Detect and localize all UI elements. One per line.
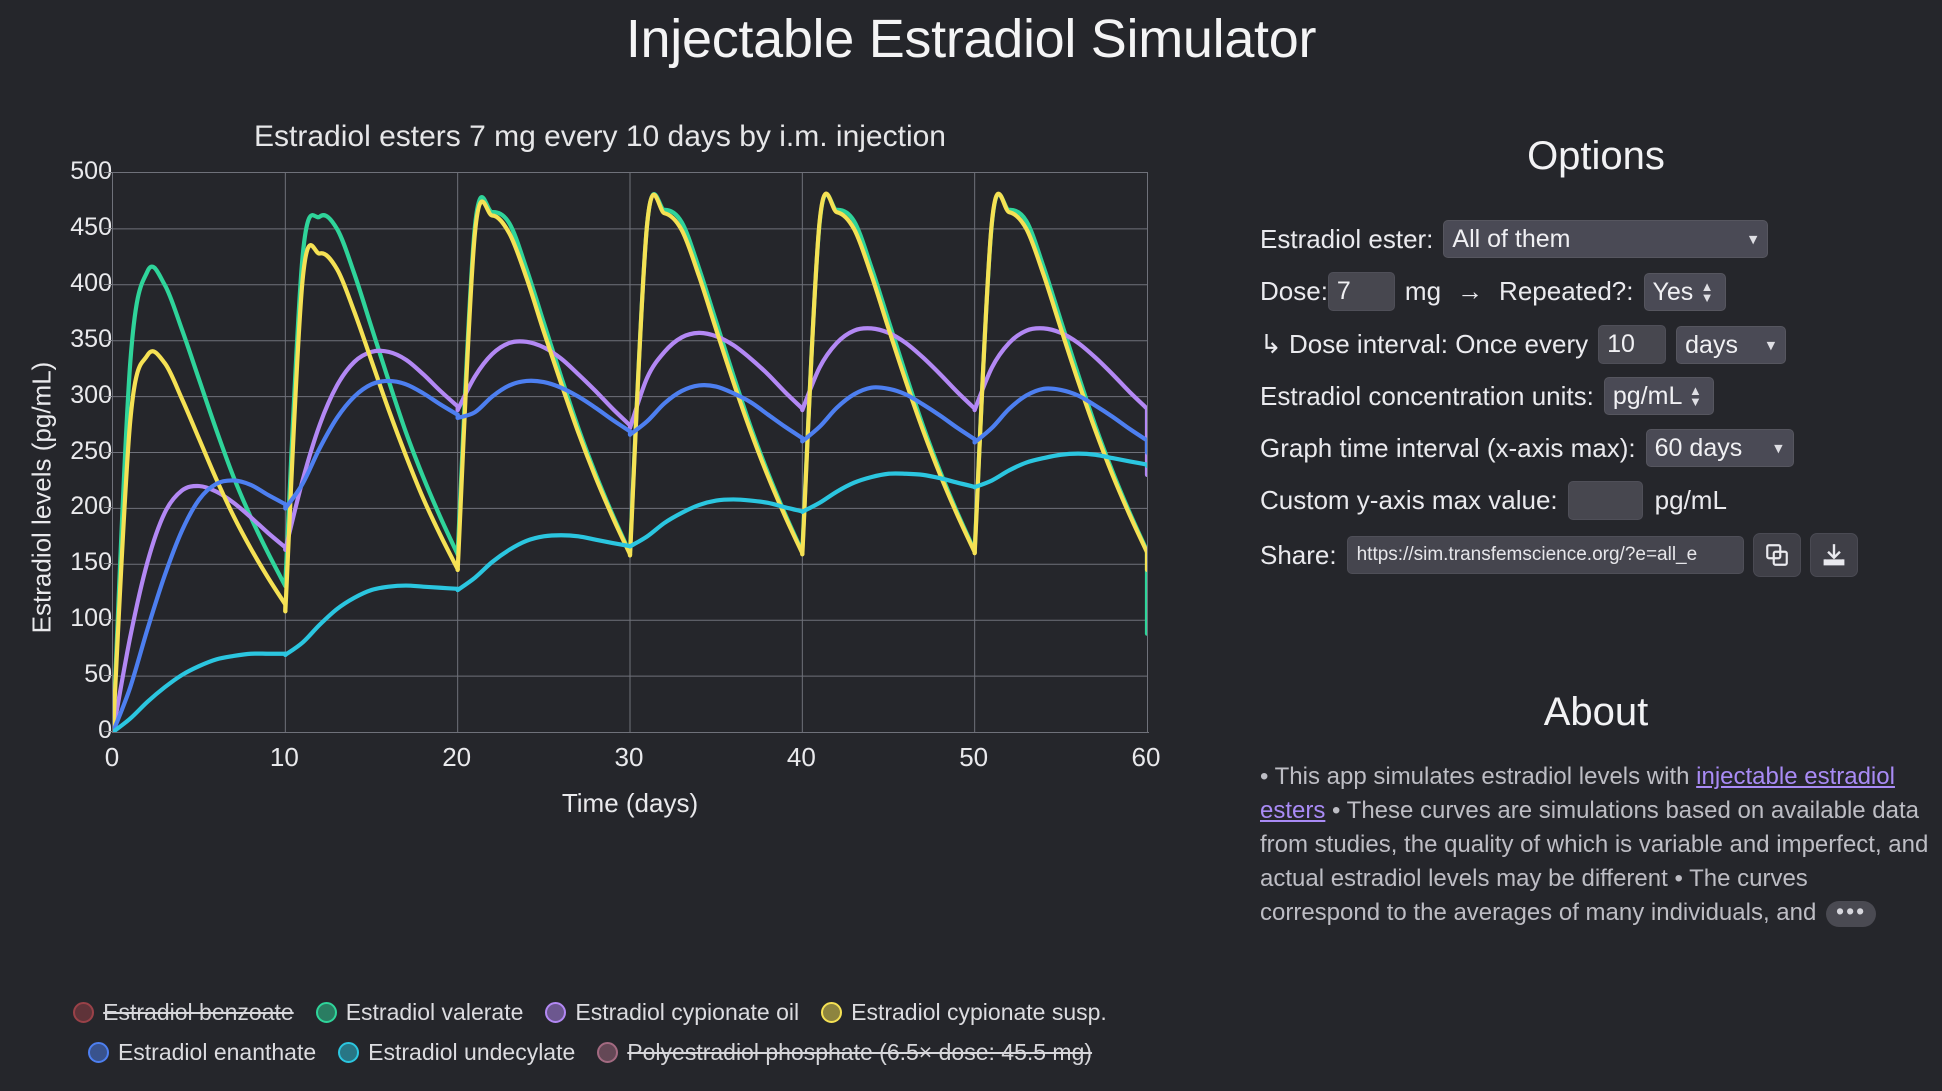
legend-color-dot bbox=[545, 1002, 566, 1023]
option-row-xmax: Graph time interval (x-axis max): 60 day… bbox=[1260, 429, 1794, 467]
interval-unit-select[interactable]: days bbox=[1676, 326, 1786, 364]
xmax-select-wrap: 60 days ▾ bbox=[1646, 429, 1794, 467]
series-curve bbox=[630, 499, 802, 546]
y-axis-tick-label: 150 bbox=[0, 548, 112, 577]
custom-ymax-input[interactable] bbox=[1568, 481, 1643, 520]
option-row-interval: ↳ Dose interval: Once every days ▾ bbox=[1260, 325, 1786, 364]
y-axis-tick-label: 50 bbox=[0, 660, 112, 689]
y-axis-tick-mark bbox=[104, 284, 112, 285]
y-axis-tick-mark bbox=[104, 172, 112, 173]
legend-item[interactable]: Estradiol cypionate oil bbox=[545, 999, 799, 1026]
y-axis-tick-mark bbox=[104, 563, 112, 564]
download-image-button[interactable] bbox=[1810, 533, 1858, 577]
units-select-wrap: pg/mL ▲▼ bbox=[1604, 377, 1714, 415]
show-more-button[interactable]: ••• bbox=[1826, 901, 1876, 927]
y-axis-tick-mark bbox=[104, 507, 112, 508]
y-axis-tick-label: 500 bbox=[0, 157, 112, 186]
y-axis-tick-mark bbox=[104, 396, 112, 397]
chart-title: Estradiol esters 7 mg every 10 days by i… bbox=[0, 120, 1180, 154]
x-axis-tick-label: 20 bbox=[417, 742, 497, 773]
y-axis-tick-label: 100 bbox=[0, 604, 112, 633]
ymax-label: Custom y-axis max value: bbox=[1260, 485, 1558, 516]
ymax-unit-label: pg/mL bbox=[1655, 485, 1727, 516]
y-axis-tick-mark bbox=[104, 675, 112, 676]
legend-color-dot bbox=[316, 1002, 337, 1023]
y-axis-tick-label: 300 bbox=[0, 381, 112, 410]
copy-icon bbox=[1764, 542, 1790, 568]
y-axis-tick-mark bbox=[104, 731, 112, 732]
plot-area bbox=[112, 172, 1148, 732]
about-text-part1: • This app simulates estradiol levels wi… bbox=[1260, 763, 1696, 790]
x-axis-tick-label: 30 bbox=[589, 742, 669, 773]
about-text: • This app simulates estradiol levels wi… bbox=[1260, 760, 1932, 930]
series-curve bbox=[630, 385, 802, 438]
y-axis-tick-mark bbox=[104, 228, 112, 229]
y-axis-tick-label: 350 bbox=[0, 325, 112, 354]
x-axis-tick-label: 50 bbox=[934, 742, 1014, 773]
legend-item-label: Polyestradiol phosphate (6.5× dose: 45.5… bbox=[627, 1039, 1092, 1066]
option-row-ester: Estradiol ester: All of them ▾ bbox=[1260, 220, 1768, 258]
ester-label: Estradiol ester: bbox=[1260, 224, 1433, 255]
series-curve bbox=[802, 387, 974, 441]
concentration-units-select[interactable]: pg/mL bbox=[1604, 377, 1714, 415]
legend-item[interactable]: Polyestradiol phosphate (6.5× dose: 45.5… bbox=[597, 1039, 1092, 1066]
legend-color-dot bbox=[597, 1042, 618, 1063]
copy-link-button[interactable] bbox=[1753, 533, 1801, 577]
plot-wrapper: Estradiol levels (pg/mL) 050100150200250… bbox=[0, 152, 1180, 852]
y-axis-tick-mark bbox=[104, 340, 112, 341]
y-axis-tick-label: 450 bbox=[0, 213, 112, 242]
legend-item-label: Estradiol benzoate bbox=[103, 999, 294, 1026]
x-axis-tick-label: 10 bbox=[244, 742, 324, 773]
chart-panel: Estradiol esters 7 mg every 10 days by i… bbox=[0, 120, 1180, 1000]
legend-row: Estradiol enanthateEstradiol undecylateP… bbox=[0, 1032, 1180, 1072]
chart-svg bbox=[113, 173, 1147, 732]
x-axis-tick-label: 0 bbox=[72, 742, 152, 773]
dose-unit-label: mg bbox=[1405, 276, 1441, 307]
legend-row: Estradiol benzoateEstradiol valerateEstr… bbox=[0, 992, 1180, 1032]
legend-item-label: Estradiol cypionate oil bbox=[575, 999, 799, 1026]
option-row-share: Share: bbox=[1260, 533, 1858, 577]
legend-item[interactable]: Estradiol cypionate susp. bbox=[821, 999, 1107, 1026]
interval-unit-select-wrap: days ▾ bbox=[1676, 326, 1786, 364]
x-axis-tick-label: 60 bbox=[1106, 742, 1186, 773]
dose-label: Dose: bbox=[1260, 276, 1328, 307]
legend-item-label: Estradiol cypionate susp. bbox=[851, 999, 1107, 1026]
app-root: Injectable Estradiol Simulator Estradiol… bbox=[0, 0, 1942, 1091]
series-curve bbox=[458, 381, 630, 432]
option-row-ymax: Custom y-axis max value: pg/mL bbox=[1260, 481, 1727, 520]
about-heading: About bbox=[1250, 690, 1942, 735]
units-label: Estradiol concentration units: bbox=[1260, 381, 1594, 412]
xmax-label: Graph time interval (x-axis max): bbox=[1260, 433, 1636, 464]
x-axis-line bbox=[112, 732, 1149, 733]
options-heading: Options bbox=[1250, 134, 1942, 179]
legend-item[interactable]: Estradiol enanthate bbox=[88, 1039, 316, 1066]
y-axis-tick-mark bbox=[104, 619, 112, 620]
legend-item[interactable]: Estradiol valerate bbox=[316, 999, 524, 1026]
x-axis-label: Time (days) bbox=[110, 788, 1150, 819]
series-curve bbox=[113, 351, 285, 732]
share-url-input[interactable] bbox=[1347, 536, 1744, 574]
dose-input[interactable] bbox=[1328, 272, 1395, 311]
series-curve bbox=[113, 486, 285, 732]
y-axis-tick-mark bbox=[104, 452, 112, 453]
y-axis-tick-label: 200 bbox=[0, 492, 112, 521]
page-title: Injectable Estradiol Simulator bbox=[0, 8, 1942, 70]
legend-item[interactable]: Estradiol undecylate bbox=[338, 1039, 575, 1066]
graph-time-interval-select[interactable]: 60 days bbox=[1646, 429, 1794, 467]
legend-color-dot bbox=[821, 1002, 842, 1023]
series-curve bbox=[975, 194, 1147, 553]
series-curve bbox=[975, 454, 1147, 488]
chart-legend: Estradiol benzoateEstradiol valerateEstr… bbox=[0, 992, 1180, 1072]
ester-select-wrap: All of them ▾ bbox=[1443, 220, 1768, 258]
legend-item-label: Estradiol undecylate bbox=[368, 1039, 575, 1066]
legend-color-dot bbox=[338, 1042, 359, 1063]
download-icon bbox=[1821, 542, 1847, 568]
repeated-label: Repeated?: bbox=[1499, 276, 1633, 307]
y-axis-tick-label: 0 bbox=[0, 716, 112, 745]
legend-color-dot bbox=[88, 1042, 109, 1063]
y-axis-tick-label: 250 bbox=[0, 437, 112, 466]
legend-color-dot bbox=[73, 1002, 94, 1023]
interval-label: ↳ Dose interval: Once every bbox=[1260, 329, 1588, 360]
share-label: Share: bbox=[1260, 540, 1337, 571]
series-curve bbox=[458, 535, 630, 590]
repeated-select[interactable]: Yes bbox=[1644, 273, 1726, 311]
legend-item-label: Estradiol enanthate bbox=[118, 1039, 316, 1066]
legend-item-label: Estradiol valerate bbox=[346, 999, 524, 1026]
series-curve bbox=[458, 202, 630, 570]
legend-item[interactable]: Estradiol benzoate bbox=[73, 999, 294, 1026]
x-axis-tick-label: 40 bbox=[761, 742, 841, 773]
series-curve bbox=[285, 245, 457, 611]
interval-input[interactable] bbox=[1598, 325, 1666, 364]
estradiol-ester-select[interactable]: All of them bbox=[1443, 220, 1768, 258]
arrow-icon: → bbox=[1457, 276, 1483, 307]
series-curve bbox=[802, 194, 974, 555]
y-axis-tick-label: 400 bbox=[0, 269, 112, 298]
option-row-units: Estradiol concentration units: pg/mL ▲▼ bbox=[1260, 377, 1714, 415]
repeated-select-wrap: Yes ▲▼ bbox=[1644, 273, 1726, 311]
option-row-dose: Dose: mg → Repeated?: Yes ▲▼ bbox=[1260, 272, 1726, 311]
